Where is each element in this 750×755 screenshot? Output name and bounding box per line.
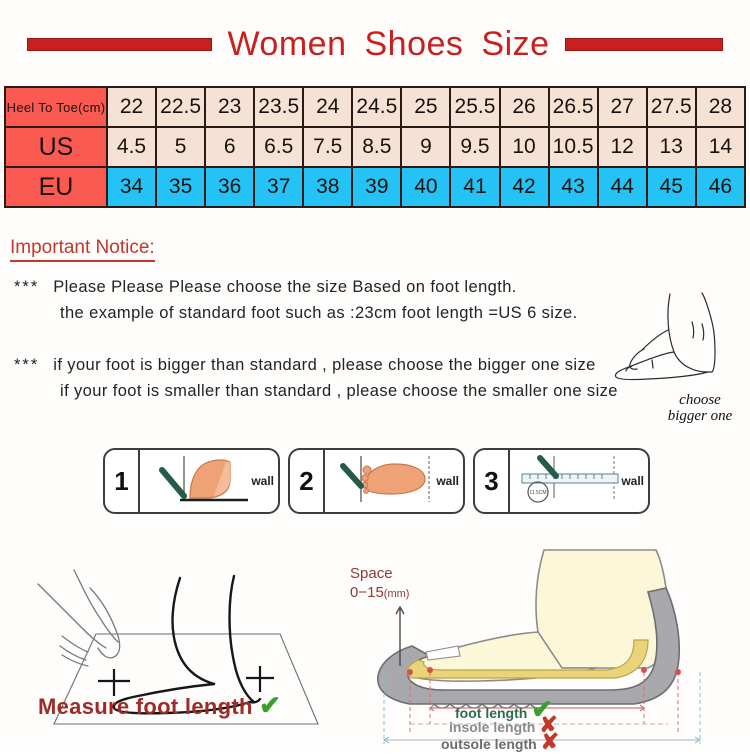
space-label: Space 0−15(mm) (350, 564, 409, 604)
cell-cm: 27 (599, 88, 646, 126)
space-value-number: 0−15 (350, 584, 384, 601)
outsole-length-label: outsole length ✘ (441, 729, 559, 755)
cell-eu: 44 (599, 168, 646, 206)
size-chart-page: WomenShoesSize Heel To Toe(cm) 22 22.5 2… (0, 0, 750, 750)
cell-us: 12 (599, 128, 646, 166)
cell-eu: 39 (353, 168, 400, 206)
cell-us: 10.5 (550, 128, 597, 166)
check-icon: ✔ (259, 690, 281, 720)
bullet-stars: *** (14, 278, 39, 296)
title-bar-right (565, 38, 723, 51)
cell-us: 6 (206, 128, 253, 166)
important-notice-heading: Important Notice: (10, 237, 155, 262)
cell-us: 13 (648, 128, 695, 166)
table-row-us: US 4.5 5 6 6.5 7.5 8.5 9 9.5 10 10.5 12 … (6, 128, 744, 166)
cell-cm: 23 (206, 88, 253, 126)
cell-cm: 23.5 (255, 88, 302, 126)
cell-cm: 25 (402, 88, 449, 126)
notice-line-3-text: if your foot is bigger than standard , p… (53, 356, 595, 374)
row-label-us: US (6, 128, 106, 166)
cell-cm: 26.5 (550, 88, 597, 126)
size-table: Heel To Toe(cm) 22 22.5 23 23.5 24 24.5 … (4, 86, 746, 208)
table-row-cm: Heel To Toe(cm) 22 22.5 23 23.5 24 24.5 … (6, 88, 744, 126)
step-panel-2: 2 wall (288, 448, 465, 514)
measurement-steps: 1 wall 2 (103, 448, 650, 514)
cell-us: 10 (501, 128, 548, 166)
measure-foot-caption: Measure foot length ✔ (38, 690, 281, 721)
cell-cm: 28 (697, 88, 744, 126)
cell-eu: 42 (501, 168, 548, 206)
notice-line-3: ***if your foot is bigger than standard … (14, 356, 596, 375)
cell-cm: 24 (304, 88, 351, 126)
cell-cm: 27.5 (648, 88, 695, 126)
cell-eu: 38 (304, 168, 351, 206)
title-word-shoes: Shoes (364, 25, 463, 63)
cell-us: 14 (697, 128, 744, 166)
cell-us: 5 (157, 128, 204, 166)
cell-cm: 25.5 (451, 88, 498, 126)
side-foot-illustration (608, 292, 736, 402)
cell-us: 7.5 (304, 128, 351, 166)
cell-eu: 41 (451, 168, 498, 206)
notice-line-2: the example of standard foot such as :23… (60, 304, 578, 323)
svg-text:11.5CM: 11.5CM (529, 490, 546, 496)
cell-cm: 26 (501, 88, 548, 126)
step-number: 2 (290, 450, 325, 512)
side-foot-caption-line2: bigger one (645, 408, 750, 424)
measure-caption-text: Measure foot length (38, 694, 253, 719)
space-label-value: 0−15(mm) (350, 583, 409, 604)
wall-label: wall (436, 474, 459, 488)
cross-icon: ✘ (541, 729, 559, 754)
cell-eu: 46 (697, 168, 744, 206)
cell-cm: 24.5 (353, 88, 400, 126)
step-1-illustration: wall (140, 450, 278, 512)
step-panel-3: 3 11.5CM wall (473, 448, 650, 514)
step-number: 1 (105, 450, 140, 512)
row-label-eu: EU (6, 168, 106, 206)
cell-eu: 37 (255, 168, 302, 206)
wall-label: wall (621, 474, 644, 488)
cell-us: 9.5 (451, 128, 498, 166)
row-label-heel-to-toe: Heel To Toe(cm) (6, 88, 106, 126)
side-foot-caption-line1: choose (645, 392, 750, 408)
cell-eu: 45 (648, 168, 695, 206)
cell-eu: 34 (108, 168, 155, 206)
title-word-women: Women (227, 25, 346, 63)
step-3-illustration: 11.5CM wall (510, 450, 648, 512)
cell-us: 8.5 (353, 128, 400, 166)
space-label-title: Space (350, 564, 409, 583)
title-word-size: Size (481, 25, 549, 63)
title-text: WomenShoesSize (218, 25, 558, 64)
bullet-stars: *** (14, 356, 39, 374)
step-panel-1: 1 wall (103, 448, 280, 514)
notice-line-1-text: Please Please Please choose the size Bas… (53, 278, 517, 296)
cell-eu: 35 (157, 168, 204, 206)
side-foot-caption: choose bigger one (645, 392, 750, 424)
page-title: WomenShoesSize (0, 22, 750, 66)
step-2-illustration: wall (325, 450, 463, 512)
cell-us: 6.5 (255, 128, 302, 166)
title-bar-left (27, 38, 212, 51)
space-value-unit: (mm) (384, 588, 410, 600)
notice-line-1: ***Please Please Please choose the size … (14, 278, 517, 297)
step-number: 3 (475, 450, 510, 512)
cell-eu: 36 (206, 168, 253, 206)
cell-cm: 22.5 (157, 88, 204, 126)
notice-line-4: if your foot is smaller than standard , … (60, 382, 618, 401)
table-row-eu: EU 34 35 36 37 38 39 40 41 42 43 44 45 4… (6, 168, 744, 206)
cell-eu: 40 (402, 168, 449, 206)
cell-cm: 22 (108, 88, 155, 126)
cell-us: 9 (402, 128, 449, 166)
cell-us: 4.5 (108, 128, 155, 166)
wall-label: wall (251, 474, 274, 488)
cell-eu: 43 (550, 168, 597, 206)
